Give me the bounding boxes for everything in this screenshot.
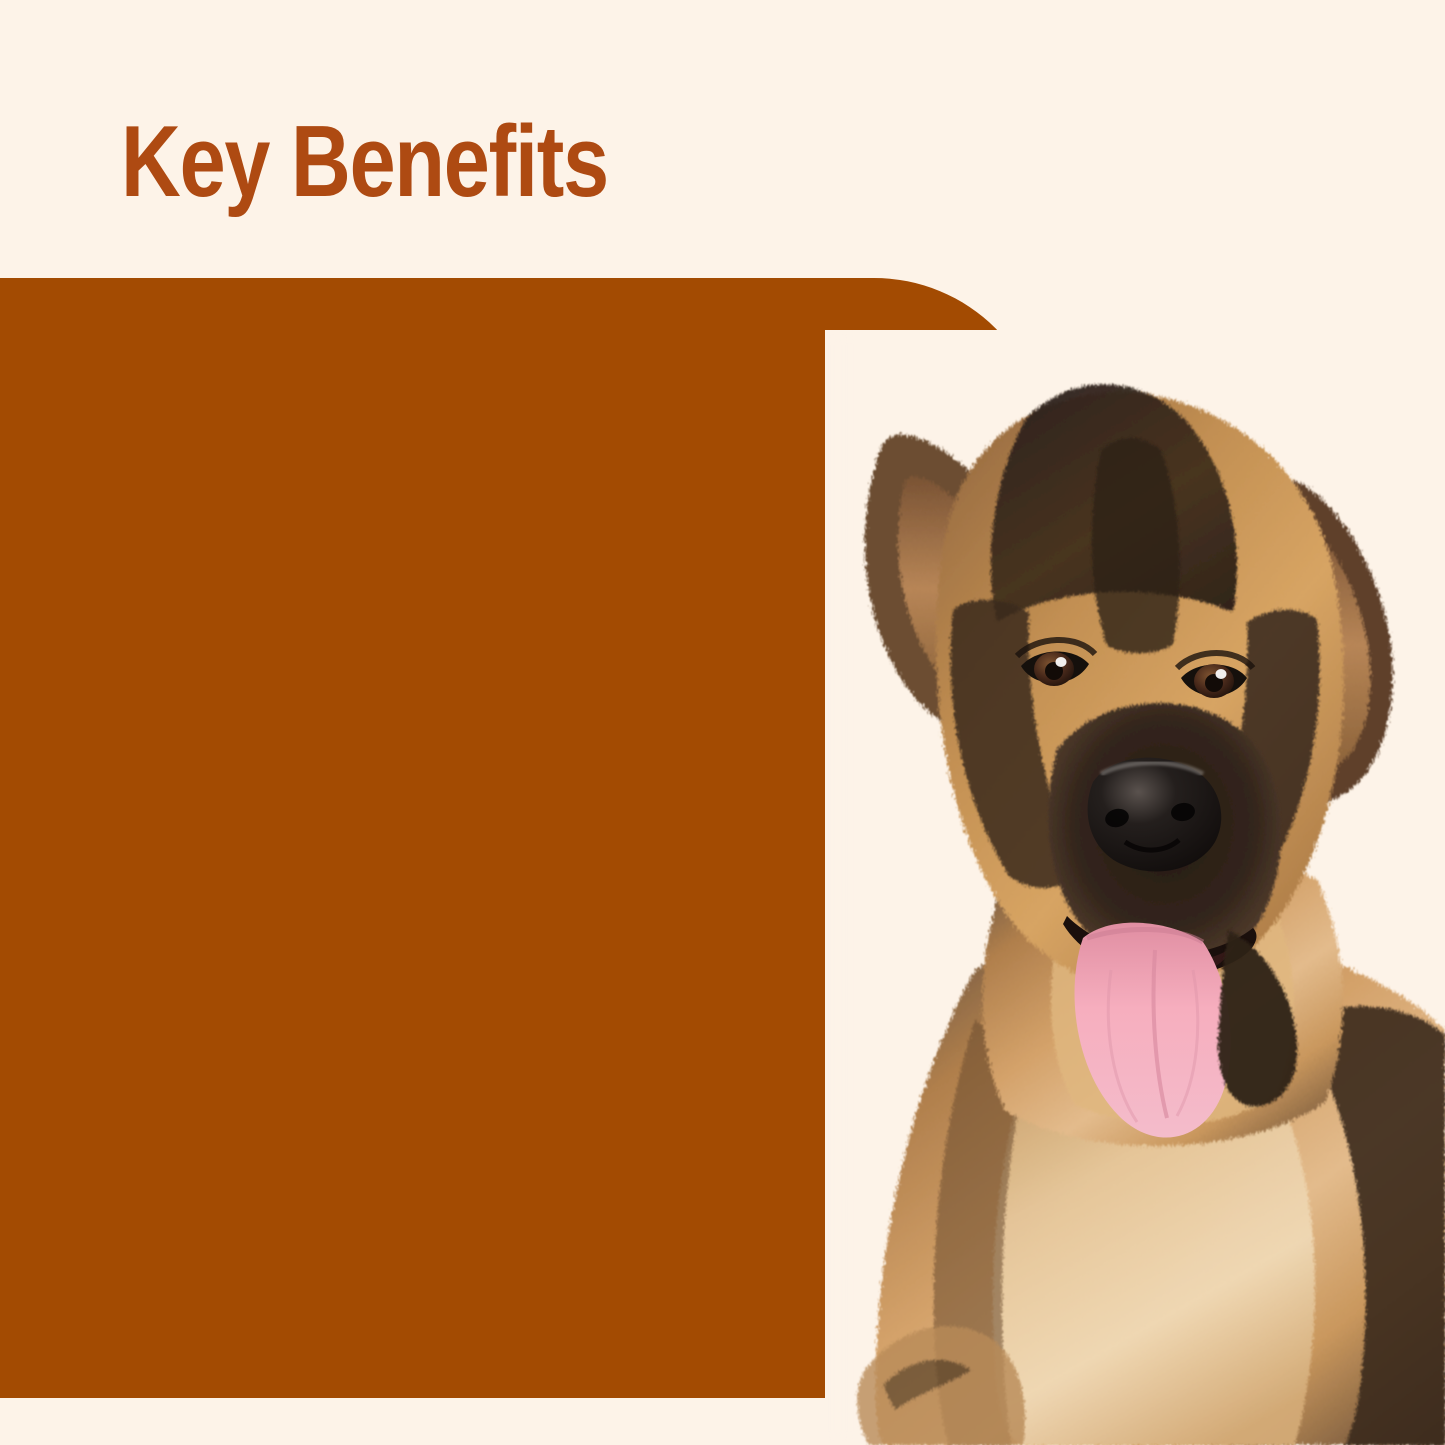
infographic-canvas: Key Benefits — [0, 0, 1445, 1445]
page-title: Key Benefits — [121, 112, 608, 213]
dog-photo — [825, 330, 1445, 1445]
